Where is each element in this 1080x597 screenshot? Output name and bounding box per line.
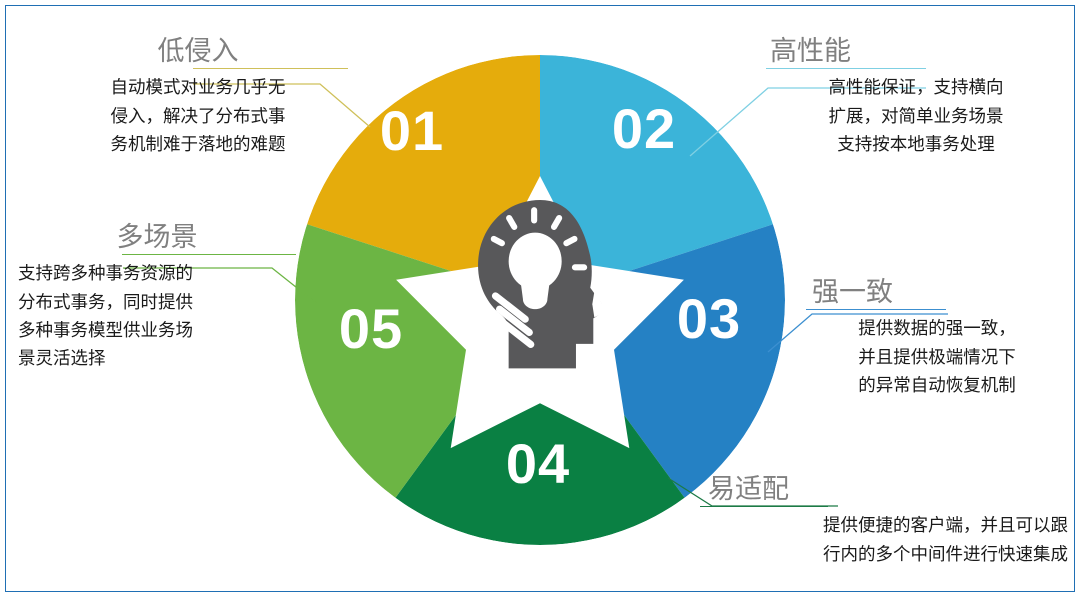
callout-03-underline: [806, 309, 946, 310]
callout-01-underline: [193, 68, 348, 69]
callout-05-underline: [122, 254, 296, 255]
segment-number-05: 05: [339, 297, 403, 360]
segment-number-01: 01: [380, 99, 444, 162]
slide-canvas: 01 02 03 04 05: [0, 0, 1080, 597]
callout-easy-adaptation[interactable]: 易适配 提供便捷的客户端，并且可以跟 行内的多个中间件进行快速集成: [700, 474, 1068, 568]
callout-04-underline: [700, 506, 828, 507]
callout-01-body: 自动模式对业务几乎无 侵入，解决了分布式事 务机制难于落地的难题: [48, 73, 348, 158]
callout-02-title: 高性能: [766, 36, 1066, 66]
callout-low-intrusion[interactable]: 低侵入 自动模式对业务几乎无 侵入，解决了分布式事 务机制难于落地的难题: [48, 36, 348, 158]
segment-number-02: 02: [612, 97, 676, 160]
callout-04-body: 提供便捷的客户端，并且可以跟 行内的多个中间件进行快速集成: [700, 511, 1068, 568]
callout-05-body: 支持跨多种事务资源的 分布式事务，同时提供 多种事务模型供业务场 景灵活选择: [18, 259, 296, 372]
callout-02-body: 高性能保证，支持横向 扩展，对简单业务场景 支持按本地事务处理: [766, 73, 1066, 158]
callout-high-performance[interactable]: 高性能 高性能保证，支持横向 扩展，对简单业务场景 支持按本地事务处理: [766, 36, 1066, 158]
callout-strong-consistency[interactable]: 强一致 提供数据的强一致， 并且提供极端情况下 的异常自动恢复机制: [806, 277, 1068, 399]
callout-04-title: 易适配: [700, 474, 1068, 504]
segment-number-03: 03: [677, 287, 741, 350]
callout-multi-scenario[interactable]: 多场景 支持跨多种事务资源的 分布式事务，同时提供 多种事务模型供业务场 景灵活…: [18, 222, 296, 373]
segment-number-04: 04: [506, 432, 570, 495]
callout-02-underline: [766, 68, 926, 69]
callout-03-body: 提供数据的强一致， 并且提供极端情况下 的异常自动恢复机制: [806, 314, 1068, 399]
callout-01-title: 低侵入: [48, 36, 348, 66]
callout-05-title: 多场景: [18, 222, 296, 252]
callout-03-title: 强一致: [806, 277, 1068, 307]
